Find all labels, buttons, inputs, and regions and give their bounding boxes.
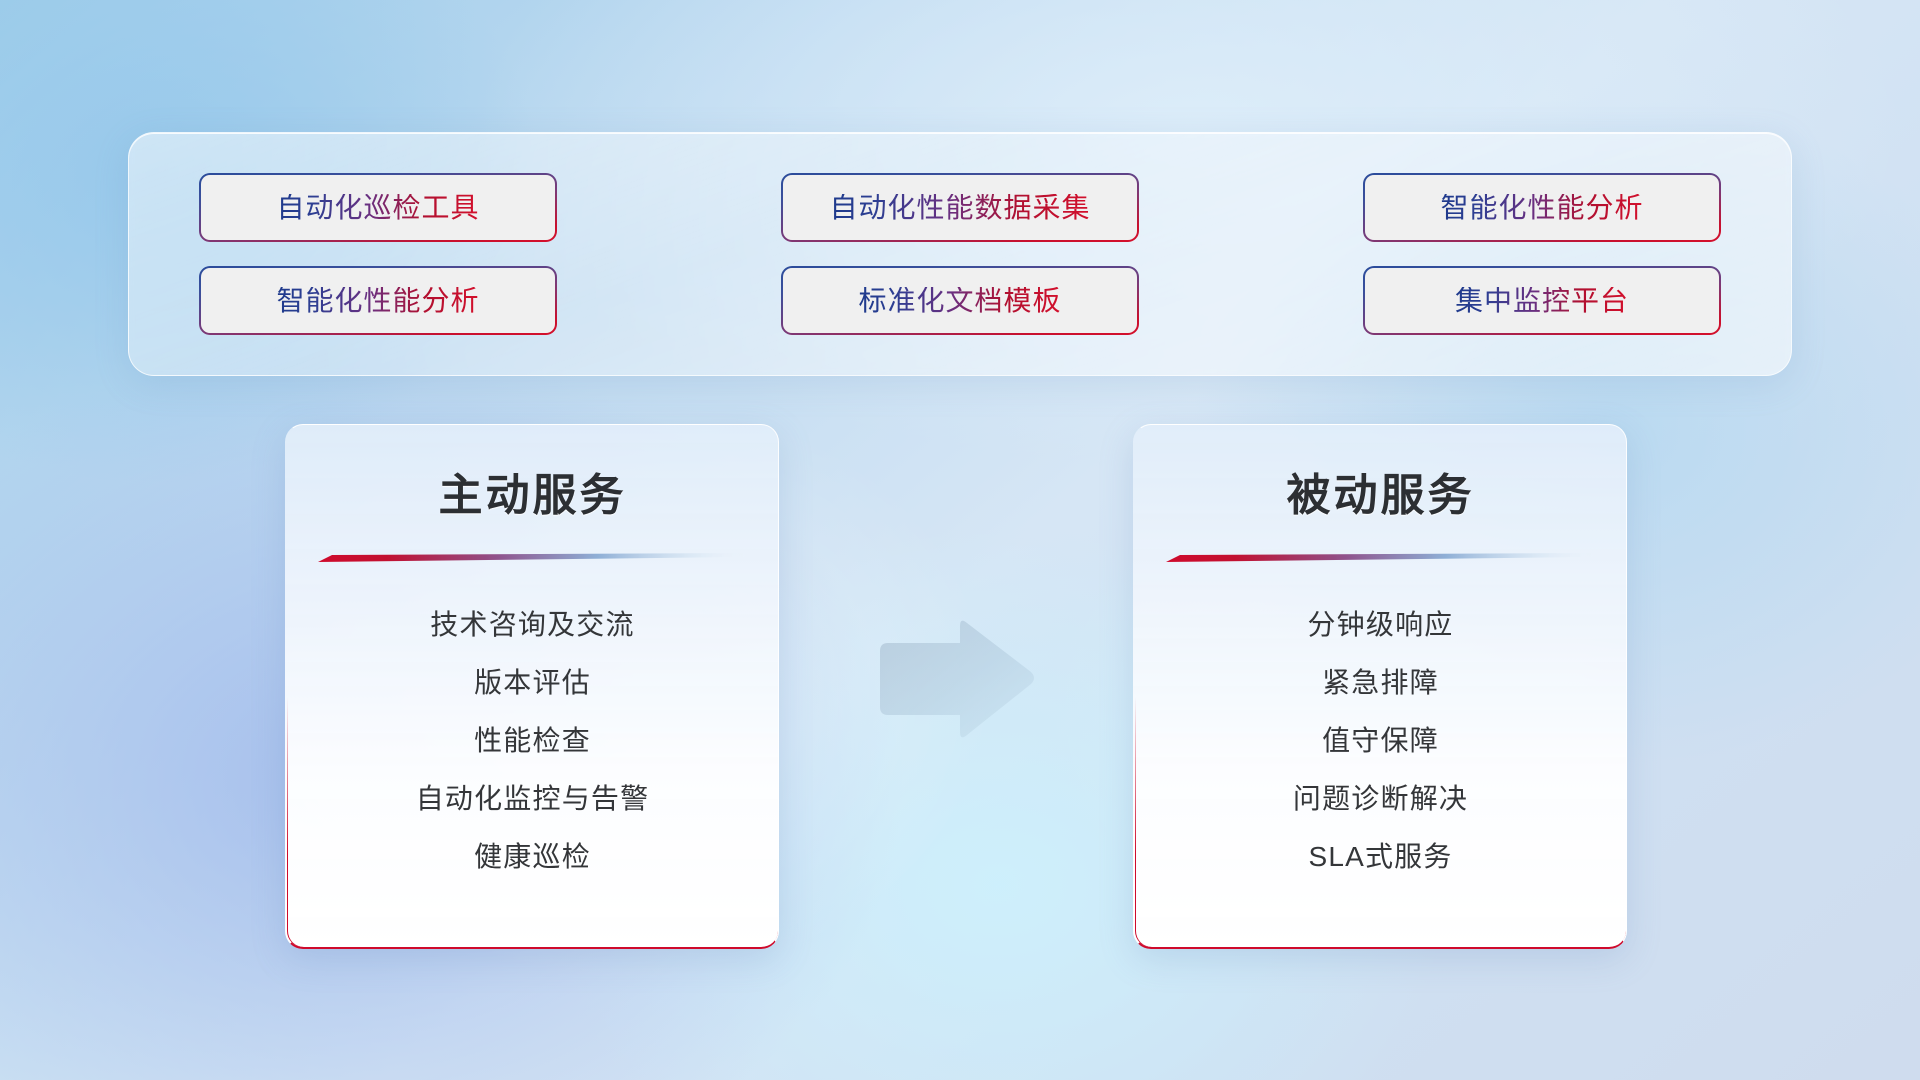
capability-tag[interactable]: 自动化性能数据采集 [781,173,1139,242]
arrow-right-icon [874,618,1040,740]
card-title: 主动服务 [287,459,778,523]
service-list-item[interactable]: 值守保障 [1135,712,1626,770]
capability-tag[interactable]: 自动化巡检工具 [199,173,557,242]
capability-row-1: 自动化巡检工具 自动化性能数据采集 智能化性能分析 [199,173,1721,242]
capability-tag-label: 自动化巡检工具 [276,194,479,222]
service-card-proactive: 主动服务 技术咨询及交流 版本评估 性能检查 [285,424,779,949]
capability-tag[interactable]: 智能化性能分析 [1363,173,1721,242]
capability-tag-label: 自动化性能数据采集 [829,194,1090,222]
card-divider [1166,553,1596,562]
service-list-item[interactable]: 性能检查 [287,712,778,770]
capability-tag[interactable]: 智能化性能分析 [199,266,557,335]
slide-stage: 自动化巡检工具 自动化性能数据采集 智能化性能分析 智能化性能分析 标准化文档模… [0,0,1920,1080]
service-list-item[interactable]: 分钟级响应 [1135,596,1626,654]
service-list-item[interactable]: 技术咨询及交流 [287,596,778,654]
service-card-reactive: 被动服务 分钟级响应 紧急排障 值守保障 [1133,424,1627,949]
capability-tag-label: 智能化性能分析 [1440,194,1643,222]
service-list-item[interactable]: SLA式服务 [1135,828,1626,886]
capability-tag-label: 标准化文档模板 [858,287,1061,315]
capability-tag-label: 智能化性能分析 [276,287,479,315]
service-list-item[interactable]: 版本评估 [287,654,778,712]
capability-panel: 自动化巡检工具 自动化性能数据采集 智能化性能分析 智能化性能分析 标准化文档模… [128,132,1792,376]
capability-tag-label: 集中监控平台 [1455,287,1629,315]
card-title: 被动服务 [1135,459,1626,523]
capability-tag[interactable]: 集中监控平台 [1363,266,1721,335]
capability-tag[interactable]: 标准化文档模板 [781,266,1139,335]
service-list: 分钟级响应 紧急排障 值守保障 问题诊断解决 SLA式服务 [1135,596,1626,886]
service-list-item[interactable]: 紧急排障 [1135,654,1626,712]
service-list: 技术咨询及交流 版本评估 性能检查 自动化监控与告警 健康巡检 [287,596,778,886]
service-list-item[interactable]: 健康巡检 [287,828,778,886]
capability-row-2: 智能化性能分析 标准化文档模板 集中监控平台 [199,266,1721,335]
service-list-item[interactable]: 问题诊断解决 [1135,770,1626,828]
service-list-item[interactable]: 自动化监控与告警 [287,770,778,828]
card-divider [318,553,748,562]
